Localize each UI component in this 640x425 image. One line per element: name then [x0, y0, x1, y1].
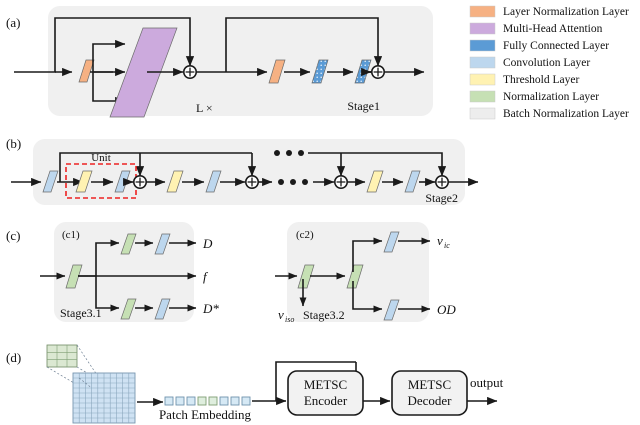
- add-node-a2: [372, 66, 384, 78]
- panel-c1-tag: (c1): [62, 229, 80, 241]
- metsc-decoder-box: METSC Decoder: [392, 371, 467, 415]
- legend-item-6: Batch Normalization Layer: [470, 108, 629, 120]
- patch-small-grid: [47, 345, 77, 367]
- legend-label-normalization: Normalization Layer: [503, 91, 599, 103]
- legend-item-3: Convolution Layer: [470, 57, 590, 69]
- subpanel-c2: (c2) v ic v iso: [275, 222, 456, 324]
- legend-label-threshold: Threshold Layer: [503, 74, 579, 86]
- panel-c1-output-f: f: [203, 269, 209, 284]
- panel-a-label: (a): [6, 15, 20, 30]
- architecture-diagram: (a): [0, 0, 640, 425]
- legend-item-1: Multi-Head Attention: [470, 23, 603, 35]
- panel-c1-stage-label: Stage3.1: [60, 306, 102, 320]
- panel-b-background: [33, 139, 465, 205]
- add-node-b3: [335, 176, 347, 188]
- panel-c2-output-viso-base: v: [278, 307, 284, 322]
- panel-a-stage-label: Stage1: [347, 99, 380, 113]
- legend-item-5: Normalization Layer: [470, 91, 599, 103]
- panel-b-top-dot-2: [286, 150, 292, 156]
- legend-swatch-attention: [470, 23, 495, 34]
- panel-b: (b) Unit: [6, 136, 478, 205]
- panel-a-repeat-label: L ×: [196, 101, 213, 115]
- legend-item-0: Layer Normalization Layer: [470, 6, 629, 18]
- panel-c2-stage-label: Stage3.2: [303, 308, 345, 322]
- legend-item-4: Threshold Layer: [470, 74, 579, 86]
- legend-label-layer-norm: Layer Normalization Layer: [503, 6, 629, 18]
- panel-c2-output-vic-base: v: [437, 233, 443, 248]
- panel-b-top-dot-3: [298, 150, 304, 156]
- legend-swatch-convolution: [470, 57, 495, 68]
- unit-label: Unit: [91, 152, 111, 164]
- panel-b-mid-dot-3: [302, 179, 308, 185]
- panel-d: (d) Patch Embeddin: [6, 345, 504, 423]
- panel-b-label: (b): [6, 136, 21, 151]
- panel-c-label: (c): [6, 228, 20, 243]
- legend-swatch-fully-connected: [470, 40, 495, 51]
- panel-c: (c) (c1) D f D* Stag: [6, 222, 456, 324]
- legend-label-batch-norm: Batch Normalization Layer: [503, 108, 629, 120]
- legend-item-2: Fully Connected Layer: [470, 40, 609, 52]
- legend-swatch-batch-norm: [470, 108, 495, 119]
- add-node-b4: [436, 176, 448, 188]
- panel-b-mid-dot-2: [290, 179, 296, 185]
- panel-c2-tag: (c2): [296, 229, 314, 241]
- patch-guide-1: [47, 367, 74, 383]
- panel-c2-output-vic-sub: ic: [444, 241, 450, 250]
- panel-d-label: (d): [6, 350, 21, 365]
- patch-embedding-label: Patch Embedding: [159, 407, 252, 422]
- panel-c2-output-od: OD: [437, 302, 456, 317]
- metsc-encoder-box: METSC Encoder: [288, 371, 363, 415]
- panel-b-top-dot-1: [274, 150, 280, 156]
- legend-label-attention: Multi-Head Attention: [503, 23, 603, 35]
- panel-a: (a): [6, 6, 433, 117]
- legend-label-fully-connected: Fully Connected Layer: [503, 40, 609, 52]
- panel-c1-output-d: D: [202, 236, 213, 251]
- panel-c1-output-dstar: D*: [202, 301, 219, 316]
- add-node-a1: [184, 66, 196, 78]
- panel-b-stage-label: Stage2: [425, 191, 458, 205]
- legend: Layer Normalization Layer Multi-Head Att…: [470, 6, 629, 120]
- metsc-encoder-line1: METSC: [304, 377, 347, 392]
- panel-b-mid-dot-1: [278, 179, 284, 185]
- subpanel-c1: (c1) D f D* Stage3.1: [40, 222, 219, 322]
- add-node-b2: [246, 176, 258, 188]
- legend-swatch-threshold: [470, 74, 495, 85]
- add-node-b1: [134, 176, 146, 188]
- legend-swatch-normalization: [470, 91, 495, 102]
- legend-label-convolution: Convolution Layer: [503, 57, 590, 69]
- legend-swatch-layer-norm: [470, 6, 495, 17]
- figure-root: (a): [0, 0, 640, 425]
- input-image-grid: [73, 373, 135, 423]
- panel-c2-output-viso-sub: iso: [285, 315, 294, 324]
- metsc-decoder-line1: METSC: [408, 377, 451, 392]
- metsc-decoder-line2: Decoder: [407, 393, 452, 408]
- patch-embedding-tokens: [165, 397, 250, 405]
- panel-c2-output-vic: v ic: [437, 233, 450, 250]
- metsc-encoder-line2: Encoder: [304, 393, 348, 408]
- panel-d-output-label: output: [470, 375, 504, 390]
